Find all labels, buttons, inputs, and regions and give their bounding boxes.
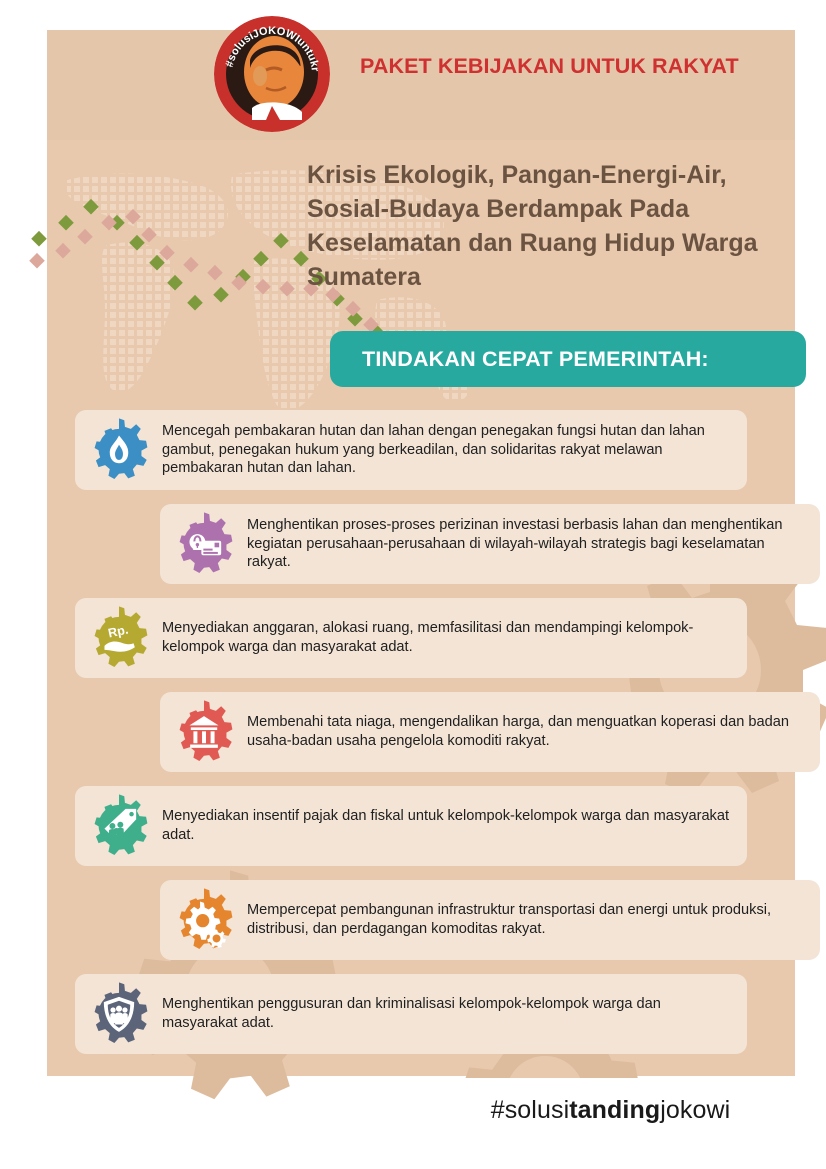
cogs-gear-icon <box>171 887 237 953</box>
footer-hashtag-suffix: jokowi <box>660 1096 730 1124</box>
infographic-poster: #solusiJOKOWIuntukrakyat PAKET KEBIJAKAN… <box>0 0 826 1169</box>
action-item-7-text: Menghentikan penggusuran dan kriminalisa… <box>162 995 747 1032</box>
action-item-1[interactable]: Mencegah pembakaran hutan dan lahan deng… <box>75 410 747 490</box>
footer-panel: #solusitandingjokowi <box>425 1078 826 1169</box>
footer-hashtag: #solusitandingjokowi <box>425 1096 796 1125</box>
action-item-2-text: Menghentikan proses-proses perizinan inv… <box>247 516 820 572</box>
action-item-5[interactable]: Menyediakan insentif pajak dan fiskal un… <box>75 786 747 866</box>
footer-hashtag-prefix: #solusi <box>491 1096 570 1124</box>
flame-gear-icon <box>86 417 152 483</box>
page-title: PAKET KEBIJAKAN UNTUK RAKYAT <box>360 54 790 79</box>
poster-background-top-strip <box>47 30 795 140</box>
actions-list: Mencegah pembakaran hutan dan lahan deng… <box>0 410 826 1068</box>
action-item-2[interactable]: Menghentikan proses-proses perizinan inv… <box>160 504 820 584</box>
action-item-3-text: Menyediakan anggaran, alokasi ruang, mem… <box>162 619 747 656</box>
rupiah-hand-gear-icon: Rp. <box>86 605 152 671</box>
action-item-4[interactable]: Membenahi tata niaga, mengendalikan harg… <box>160 692 820 772</box>
action-item-3[interactable]: Rp. Menyediakan anggaran, alokasi ruang,… <box>75 598 747 678</box>
footer-hashtag-bold: tanding <box>569 1096 660 1124</box>
action-item-5-text: Menyediakan insentif pajak dan fiskal un… <box>162 807 747 844</box>
headline-text: Krisis Ekologik, Pangan-Energi-Air, Sosi… <box>307 158 797 294</box>
jokowi-campaign-logo: #solusiJOKOWIuntukrakyat <box>214 16 330 132</box>
section-banner-label: TINDAKAN CEPAT PEMERINTAH: <box>330 347 709 372</box>
shield-people-gear-icon <box>86 981 152 1047</box>
section-banner: TINDAKAN CEPAT PEMERINTAH: <box>330 331 806 387</box>
action-item-6-text: Mempercepat pembangunan infrastruktur tr… <box>247 901 820 938</box>
action-item-6[interactable]: Mempercepat pembangunan infrastruktur tr… <box>160 880 820 960</box>
tag-people-gear-icon <box>86 793 152 859</box>
permit-lock-gear-icon <box>171 511 237 577</box>
bank-building-gear-icon <box>171 699 237 765</box>
action-item-7[interactable]: Menghentikan penggusuran dan kriminalisa… <box>75 974 747 1054</box>
action-item-4-text: Membenahi tata niaga, mengendalikan harg… <box>247 713 820 750</box>
action-item-1-text: Mencegah pembakaran hutan dan lahan deng… <box>162 422 747 478</box>
